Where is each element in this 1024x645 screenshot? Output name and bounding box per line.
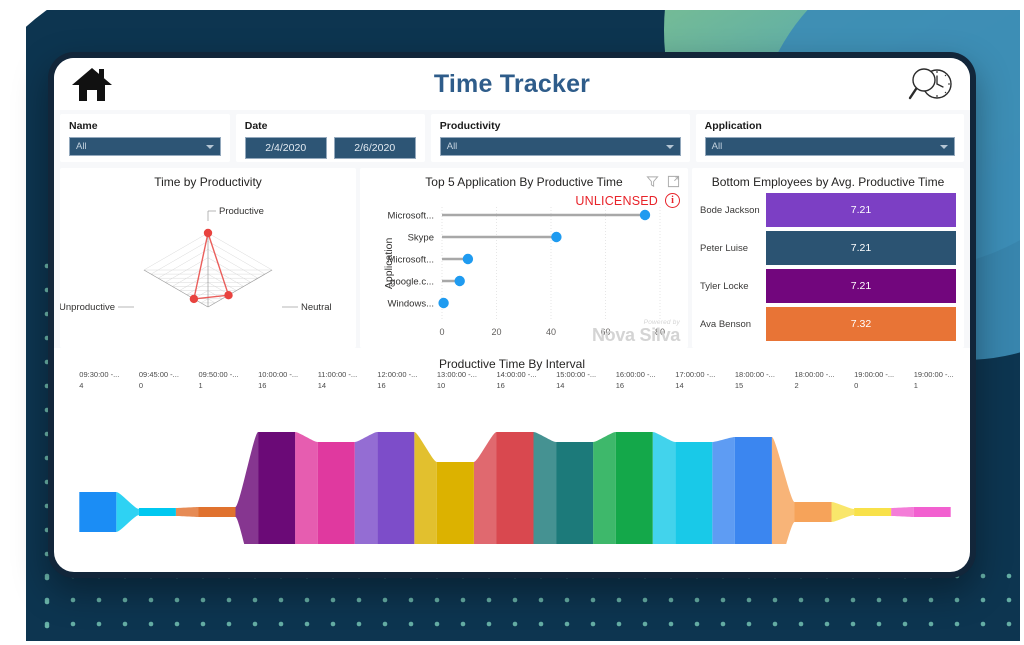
device-frame: Time Tracker bbox=[48, 52, 976, 578]
productivity-dropdown-value: All bbox=[447, 141, 458, 152]
slicer-date: Date 2/4/2020 2/6/2020 bbox=[236, 114, 425, 162]
list-item: 16:00:00 -...16 bbox=[616, 370, 656, 392]
list-item: 14:00:00 -...16 bbox=[497, 370, 537, 392]
employee-value-bar: 7.21 bbox=[766, 269, 956, 303]
date-to-field[interactable]: 2/6/2020 bbox=[334, 137, 416, 159]
slicer-productivity: Productivity All bbox=[431, 114, 690, 162]
application-dropdown[interactable]: All bbox=[705, 137, 955, 156]
unlicensed-badge: UNLICENSED bbox=[575, 194, 658, 208]
card-productive-time-by-interval[interactable]: Productive Time By Interval 09:30:00 -..… bbox=[60, 352, 964, 524]
name-dropdown[interactable]: All bbox=[69, 137, 221, 156]
list-item: 10:00:00 -...16 bbox=[258, 370, 298, 392]
employee-value-bar: 7.21 bbox=[766, 193, 956, 227]
card-bottom-employees[interactable]: Bottom Employees by Avg. Productive Time… bbox=[692, 168, 964, 348]
employee-value-bar: 7.21 bbox=[766, 231, 956, 265]
svg-text:0: 0 bbox=[439, 327, 444, 337]
interval-chart-title: Productive Time By Interval bbox=[60, 352, 964, 371]
date-range-row: 2/4/2020 2/6/2020 bbox=[245, 137, 416, 159]
background-margin-top bbox=[0, 0, 1024, 10]
list-item: 15:00:00 -...14 bbox=[556, 370, 596, 392]
employee-value-bar: 7.32 bbox=[766, 307, 956, 341]
interval-chart-plot: 09:30:00 -...409:45:00 -...009:50:00 -..… bbox=[60, 370, 964, 524]
background-margin-right bbox=[1020, 0, 1024, 645]
chevron-down-icon bbox=[666, 145, 674, 149]
slicer-application: Application All bbox=[696, 114, 964, 162]
slicer-bar: Name All Date 2/4/2020 2/6/2020 Producti… bbox=[54, 110, 970, 168]
card-time-by-productivity[interactable]: Time by Productivity ProductiveNeutralUn… bbox=[60, 168, 356, 348]
table-row[interactable]: Ava Benson 7.32 bbox=[700, 307, 956, 341]
list-item: 19:00:00 -...0 bbox=[854, 370, 894, 392]
table-row[interactable]: Peter Luise 7.21 bbox=[700, 231, 956, 265]
lollipop-chart-title: Top 5 Application By Productive Time bbox=[360, 168, 688, 189]
list-item: 11:00:00 -...14 bbox=[318, 370, 357, 392]
background-margin-bottom bbox=[0, 641, 1024, 645]
svg-text:Microsoft...: Microsoft... bbox=[388, 211, 434, 222]
productivity-dropdown[interactable]: All bbox=[440, 137, 681, 156]
info-icon[interactable]: i bbox=[665, 193, 680, 208]
filter-icon[interactable] bbox=[646, 175, 659, 188]
employee-name: Peter Luise bbox=[700, 243, 766, 254]
application-dropdown-value: All bbox=[712, 141, 723, 152]
slicer-name-label: Name bbox=[69, 120, 221, 132]
list-item: 09:50:00 -...1 bbox=[199, 370, 239, 392]
radar-chart-plot: ProductiveNeutralUnproductive bbox=[60, 189, 356, 339]
svg-text:80: 80 bbox=[655, 327, 665, 337]
svg-text:Application: Application bbox=[383, 238, 395, 290]
focus-mode-icon[interactable] bbox=[667, 175, 680, 188]
list-item: 19:00:00 -...1 bbox=[914, 370, 954, 392]
visual-row: Time by Productivity ProductiveNeutralUn… bbox=[54, 168, 970, 348]
svg-text:Productive: Productive bbox=[219, 206, 264, 217]
list-item: 17:00:00 -...14 bbox=[675, 370, 715, 392]
name-dropdown-value: All bbox=[76, 141, 87, 152]
svg-text:google.c...: google.c... bbox=[390, 277, 434, 288]
employee-name: Tyler Locke bbox=[700, 281, 766, 292]
slicer-date-label: Date bbox=[245, 120, 416, 132]
employee-name: Ava Benson bbox=[700, 319, 766, 330]
svg-text:40: 40 bbox=[546, 327, 556, 337]
slicer-name: Name All bbox=[60, 114, 230, 162]
list-item: 13:00:00 -...10 bbox=[437, 370, 477, 392]
svg-text:20: 20 bbox=[491, 327, 501, 337]
svg-text:Windows...: Windows... bbox=[388, 299, 434, 310]
svg-text:60: 60 bbox=[600, 327, 610, 337]
bottom-employees-list: Bode Jackson 7.21 Peter Luise 7.21 Tyler… bbox=[692, 189, 964, 351]
lollipop-chart-plot: Microsoft...SkypeMicrosoft...google.c...… bbox=[360, 189, 688, 341]
list-item: 18:00:00 -...2 bbox=[795, 370, 835, 392]
slicer-application-label: Application bbox=[705, 120, 955, 132]
list-item: 09:45:00 -...0 bbox=[139, 370, 179, 392]
chevron-down-icon bbox=[206, 145, 214, 149]
app-header: Time Tracker bbox=[54, 58, 970, 110]
list-item: 09:30:00 -...4 bbox=[79, 370, 119, 392]
date-from-field[interactable]: 2/4/2020 bbox=[245, 137, 327, 159]
card-top-5-application[interactable]: Top 5 Application By Productive Time UNL… bbox=[360, 168, 688, 348]
svg-text:Skype: Skype bbox=[408, 233, 434, 244]
list-item: 18:00:00 -...15 bbox=[735, 370, 775, 392]
bottom-employees-title: Bottom Employees by Avg. Productive Time bbox=[692, 168, 964, 189]
employee-name: Bode Jackson bbox=[700, 205, 766, 216]
background-margin-left bbox=[0, 0, 26, 645]
home-icon[interactable] bbox=[68, 62, 116, 106]
svg-text:Unproductive: Unproductive bbox=[60, 302, 115, 313]
table-row[interactable]: Tyler Locke 7.21 bbox=[700, 269, 956, 303]
card-header-icons bbox=[646, 175, 680, 188]
interval-ribbons bbox=[60, 392, 970, 544]
slicer-productivity-label: Productivity bbox=[440, 120, 681, 132]
page-title: Time Tracker bbox=[434, 70, 590, 99]
list-item: 12:00:00 -...16 bbox=[377, 370, 417, 392]
table-row[interactable]: Bode Jackson 7.21 bbox=[700, 193, 956, 227]
magnifier-clock-icon bbox=[904, 62, 956, 108]
screenshot-root: Time Tracker bbox=[0, 0, 1024, 645]
radar-chart-title: Time by Productivity bbox=[60, 168, 356, 189]
chevron-down-icon bbox=[940, 145, 948, 149]
dashboard-screen: Time Tracker bbox=[54, 58, 970, 572]
svg-text:Neutral: Neutral bbox=[301, 302, 332, 313]
